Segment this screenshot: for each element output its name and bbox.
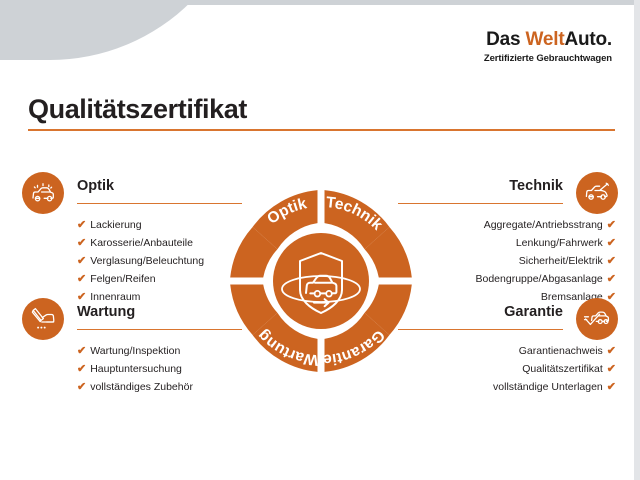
list-item-label: Lenkung/Fahrwerk bbox=[516, 237, 603, 249]
check-icon: ✔ bbox=[77, 255, 86, 267]
section-technik: Technik Aggregate/Antriebsstrang✔ Lenkun… bbox=[386, 172, 618, 306]
list-item-label: Verglasung/Beleuchtung bbox=[90, 255, 204, 267]
section-technik-list: Aggregate/Antriebsstrang✔ Lenkung/Fahrwe… bbox=[386, 216, 616, 306]
check-icon: ✔ bbox=[607, 381, 616, 393]
car-wrench-icon bbox=[22, 298, 64, 340]
logo-text-auto: Auto. bbox=[564, 29, 612, 50]
car-check-icon bbox=[576, 298, 618, 340]
list-item-label: Karosserie/Anbauteile bbox=[90, 237, 193, 249]
check-icon: ✔ bbox=[607, 345, 616, 357]
check-icon: ✔ bbox=[77, 363, 86, 375]
brand-logo-wordmark: Das WeltAuto. bbox=[484, 30, 612, 49]
section-garantie-divider bbox=[398, 329, 563, 330]
section-wartung-title: Wartung bbox=[77, 304, 135, 320]
check-icon: ✔ bbox=[77, 219, 86, 231]
logo-text-das: Das bbox=[486, 29, 525, 50]
brand-logo: Das WeltAuto. Zertifizierte Gebrauchtwag… bbox=[484, 30, 612, 64]
title-divider bbox=[28, 129, 615, 131]
list-item-label: Lackierung bbox=[90, 219, 141, 231]
section-technik-header: Technik bbox=[386, 172, 618, 216]
list-item: vollständige Unterlagen✔ bbox=[386, 378, 616, 396]
page-title: Qualitätszertifikat bbox=[28, 94, 247, 125]
section-optik-title: Optik bbox=[77, 178, 114, 194]
list-item-label: vollständiges Zubehör bbox=[90, 381, 193, 393]
check-icon: ✔ bbox=[77, 381, 86, 393]
header-grey-arc bbox=[0, 0, 250, 60]
list-item: ✔vollständiges Zubehör bbox=[77, 378, 254, 396]
car-sparkle-icon bbox=[22, 172, 64, 214]
list-item-label: Bodengruppe/Abgasanlage bbox=[476, 273, 603, 285]
list-item: Bodengruppe/Abgasanlage✔ bbox=[386, 270, 616, 288]
header-grey-band bbox=[0, 0, 640, 5]
section-garantie-header: Garantie bbox=[386, 298, 618, 342]
check-icon: ✔ bbox=[607, 273, 616, 285]
section-garantie: Garantie Garantienachweis✔ Qualitätszert… bbox=[386, 298, 618, 396]
check-icon: ✔ bbox=[607, 237, 616, 249]
quality-wheel-diagram: Optik Technik Garantie Wartung bbox=[226, 186, 416, 376]
section-optik: Optik ✔Lackierung ✔Karosserie/Anbauteile… bbox=[22, 172, 254, 306]
right-edge-strip bbox=[634, 0, 640, 480]
check-icon: ✔ bbox=[607, 363, 616, 375]
check-icon: ✔ bbox=[77, 273, 86, 285]
section-wartung-header: Wartung bbox=[22, 298, 254, 342]
check-icon: ✔ bbox=[77, 345, 86, 357]
section-garantie-title: Garantie bbox=[504, 304, 563, 320]
section-technik-title: Technik bbox=[509, 178, 563, 194]
check-icon: ✔ bbox=[607, 255, 616, 267]
section-wartung: Wartung ✔Wartung/Inspektion ✔Hauptunters… bbox=[22, 298, 254, 396]
list-item: Qualitätszertifikat✔ bbox=[386, 360, 616, 378]
certificate-page: Das WeltAuto. Zertifizierte Gebrauchtwag… bbox=[0, 0, 640, 480]
wheel-inner-disc bbox=[273, 233, 369, 329]
section-optik-header: Optik bbox=[22, 172, 254, 216]
list-item-label: Felgen/Reifen bbox=[90, 273, 155, 285]
check-icon: ✔ bbox=[77, 237, 86, 249]
list-item-label: Garantienachweis bbox=[519, 345, 603, 357]
section-garantie-list: Garantienachweis✔ Qualitätszertifikat✔ v… bbox=[386, 342, 616, 396]
brand-logo-subtitle: Zertifizierte Gebrauchtwagen bbox=[484, 54, 612, 64]
list-item: Aggregate/Antriebsstrang✔ bbox=[386, 216, 616, 234]
list-item-label: vollständige Unterlagen bbox=[493, 381, 603, 393]
list-item: Garantienachweis✔ bbox=[386, 342, 616, 360]
list-item-label: Qualitätszertifikat bbox=[522, 363, 603, 375]
check-icon: ✔ bbox=[607, 219, 616, 231]
list-item: Sicherheit/Elektrik✔ bbox=[386, 252, 616, 270]
list-item: Lenkung/Fahrwerk✔ bbox=[386, 234, 616, 252]
list-item-label: Wartung/Inspektion bbox=[90, 345, 180, 357]
section-optik-divider bbox=[77, 203, 242, 204]
list-item-label: Aggregate/Antriebsstrang bbox=[484, 219, 603, 231]
section-wartung-divider bbox=[77, 329, 242, 330]
section-technik-divider bbox=[398, 203, 563, 204]
list-item-label: Hauptuntersuchung bbox=[90, 363, 182, 375]
list-item-label: Sicherheit/Elektrik bbox=[519, 255, 603, 267]
logo-text-welt: Welt bbox=[525, 29, 564, 50]
car-open-hood-icon bbox=[576, 172, 618, 214]
